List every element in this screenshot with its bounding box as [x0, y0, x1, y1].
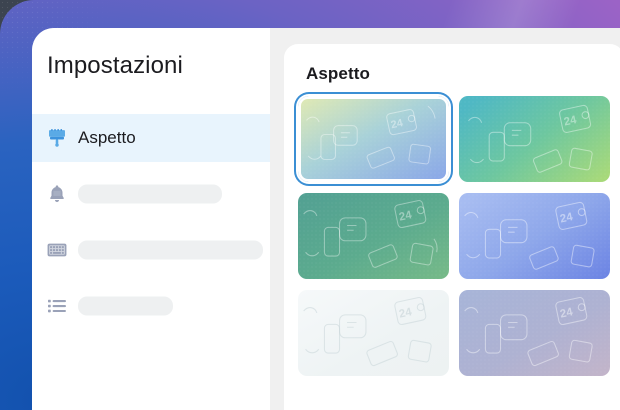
sidebar-item-aspetto[interactable]: Aspetto	[32, 114, 270, 162]
theme-grid: 24	[298, 96, 610, 376]
panel-title: Aspetto	[306, 64, 370, 84]
list-icon	[46, 295, 68, 317]
sidebar-item-skeleton	[78, 185, 222, 204]
sidebar-item-list[interactable]	[32, 282, 270, 330]
theme-swatch: 24	[298, 290, 449, 376]
theme-swatch: 24	[459, 96, 610, 182]
theme-swatch: 24	[459, 193, 610, 279]
page-title: Impostazioni	[47, 52, 183, 80]
theme-swatch: 24	[459, 290, 610, 376]
sidebar-item-label: Aspetto	[78, 128, 136, 148]
theme-option-periwinkle[interactable]: 24	[459, 193, 610, 279]
theme-option-teal-green[interactable]: 24	[459, 96, 610, 182]
theme-option-white[interactable]: 24	[298, 290, 449, 376]
swatch-grain	[298, 193, 449, 279]
theme-swatch: 24	[298, 193, 449, 279]
keyboard-icon	[46, 239, 68, 261]
paintbrush-icon	[46, 127, 68, 149]
bell-icon	[46, 183, 68, 205]
swatch-grain	[301, 99, 446, 179]
swatch-grain	[459, 96, 610, 182]
theme-option-mauve[interactable]: 24	[459, 290, 610, 376]
swatch-grain	[459, 193, 610, 279]
sidebar-item-skeleton	[78, 297, 173, 316]
theme-swatch: 24	[301, 99, 446, 179]
settings-window: Impostazioni Aspetto	[32, 28, 620, 410]
swatch-grain	[459, 290, 610, 376]
appearance-panel: Aspetto	[284, 44, 620, 410]
screenshot-frame: Impostazioni Aspetto	[0, 0, 620, 410]
theme-option-deep-green[interactable]: 24	[298, 193, 449, 279]
sidebar-item-skeleton	[78, 241, 263, 260]
sidebar-item-notifications[interactable]	[32, 170, 270, 218]
settings-sidebar: Impostazioni Aspetto	[32, 28, 270, 410]
theme-option-lime-blue[interactable]: 24	[298, 96, 449, 182]
sidebar-item-keyboard[interactable]	[32, 226, 270, 274]
